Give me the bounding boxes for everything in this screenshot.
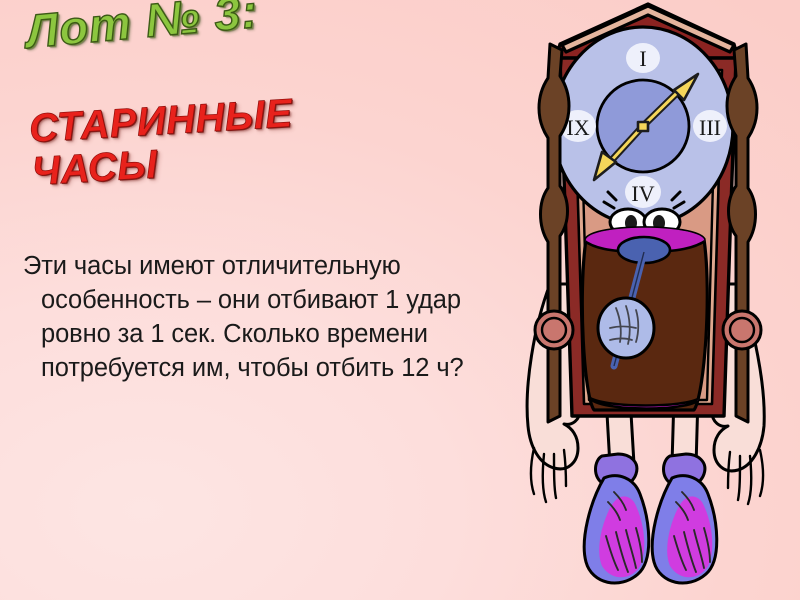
clock-shoes bbox=[584, 454, 717, 583]
cartoon-clock-illustration: I III IV IX bbox=[498, 0, 800, 596]
clock-dial: I III IV IX bbox=[553, 27, 733, 225]
numeral-bottom: IV bbox=[631, 181, 654, 206]
page-title: СТАРИННЫЕ ЧАСЫ bbox=[28, 92, 296, 194]
problem-statement-text: Эти часы имеют отличительную особенность… bbox=[23, 249, 511, 385]
numeral-left: IX bbox=[566, 115, 589, 140]
lot-title: Лот № 3: bbox=[24, 0, 260, 55]
numeral-top: I bbox=[639, 46, 646, 71]
clock-mouth-opening bbox=[582, 226, 708, 410]
slide-canvas: Лот № 3: СТАРИННЫЕ ЧАСЫ Эти часы имеют о… bbox=[0, 0, 800, 600]
numeral-right: III bbox=[699, 115, 721, 140]
